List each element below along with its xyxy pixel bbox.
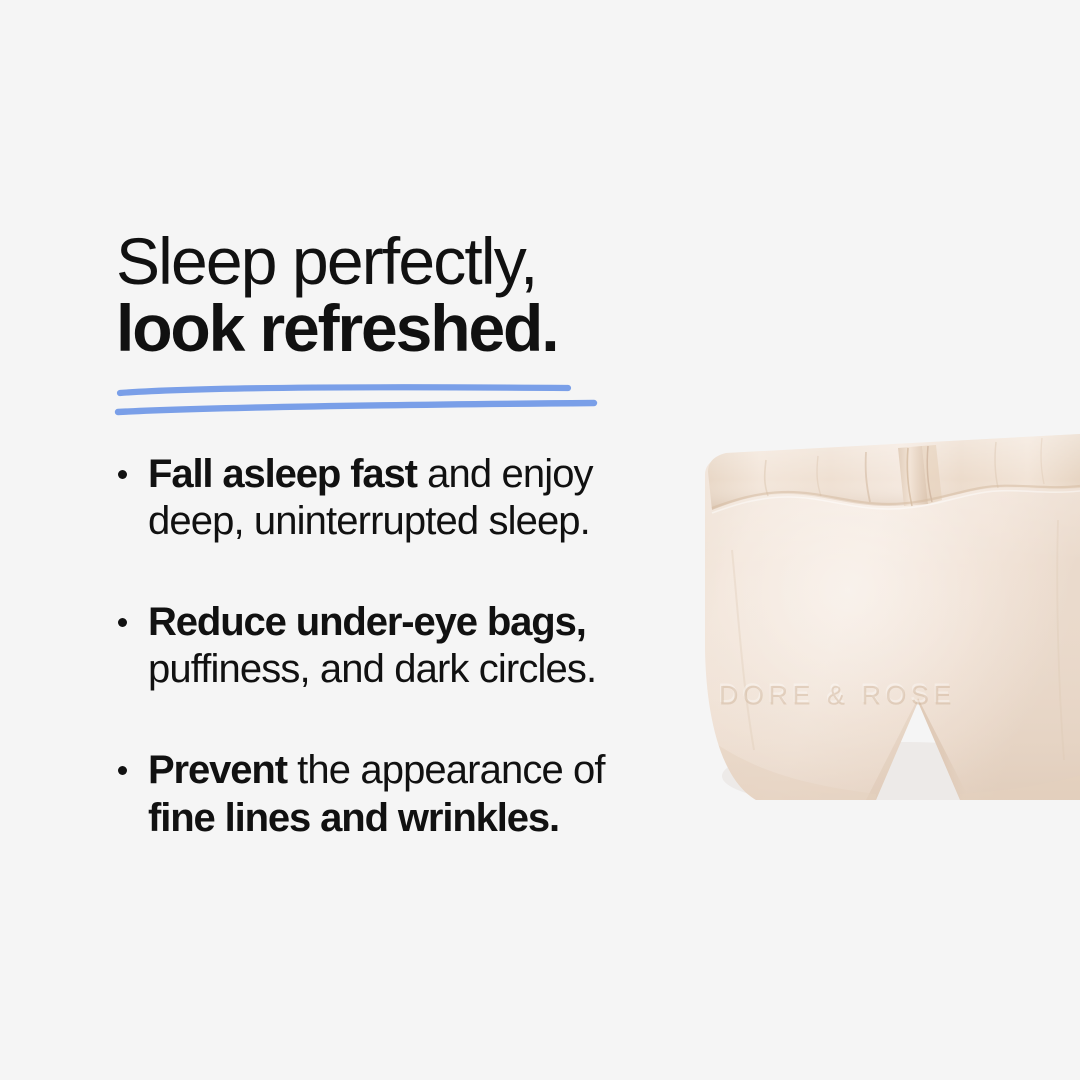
- benefit-line-1: Prevent the appearance of: [148, 747, 696, 794]
- bullet-dot-icon: [118, 470, 127, 479]
- benefits-list: Fall asleep fast and enjoy deep, uninter…: [116, 451, 696, 842]
- benefit-emphasis: Fall asleep fast: [148, 452, 417, 496]
- benefit-emphasis: Reduce under-eye bags,: [148, 600, 586, 644]
- benefit-text: puffiness, and dark circles.: [148, 647, 596, 691]
- benefit-line-2: fine lines and wrinkles.: [148, 795, 696, 842]
- benefit-text: and enjoy: [417, 452, 593, 496]
- benefit-line-1: Fall asleep fast and enjoy: [148, 451, 696, 498]
- headline-line-1: Sleep perfectly,: [116, 228, 696, 295]
- silk-sleep-mask-illustration: DORE & ROSE DORE & ROSE: [660, 380, 1080, 800]
- bullet-dot-icon: [118, 618, 127, 627]
- copy-block: Sleep perfectly, look refreshed. Fall as…: [116, 228, 696, 842]
- bullet-dot-icon: [118, 766, 127, 775]
- underline-stroke-top: [120, 387, 568, 393]
- product-image-container: DORE & ROSE DORE & ROSE: [660, 380, 1080, 800]
- list-item: Reduce under-eye bags, puffiness, and da…: [116, 599, 696, 693]
- embossed-brand-mark: DORE & ROSE DORE & ROSE: [718, 678, 956, 711]
- benefit-line-2: deep, uninterrupted sleep.: [148, 498, 696, 545]
- headline-underline: [116, 381, 616, 421]
- benefit-text: the appearance of: [287, 748, 605, 792]
- benefit-emphasis: Prevent: [148, 748, 287, 792]
- benefit-text: deep, uninterrupted sleep.: [148, 499, 590, 543]
- benefit-line-1: Reduce under-eye bags,: [148, 599, 696, 646]
- promo-graphic-canvas: DORE & ROSE DORE & ROSE Sleep perfectly,…: [0, 0, 1080, 1080]
- headline-line-2: look refreshed.: [116, 295, 696, 362]
- embossed-brand-text: DORE & ROSE: [719, 681, 956, 711]
- benefit-emphasis: fine lines and wrinkles.: [148, 796, 559, 840]
- list-item: Prevent the appearance of fine lines and…: [116, 747, 696, 841]
- underline-stroke-bottom: [118, 403, 594, 412]
- list-item: Fall asleep fast and enjoy deep, uninter…: [116, 451, 696, 545]
- page-title: Sleep perfectly, look refreshed.: [116, 228, 696, 363]
- hand-drawn-double-underline-icon: [116, 381, 616, 421]
- benefit-line-2: puffiness, and dark circles.: [148, 646, 696, 693]
